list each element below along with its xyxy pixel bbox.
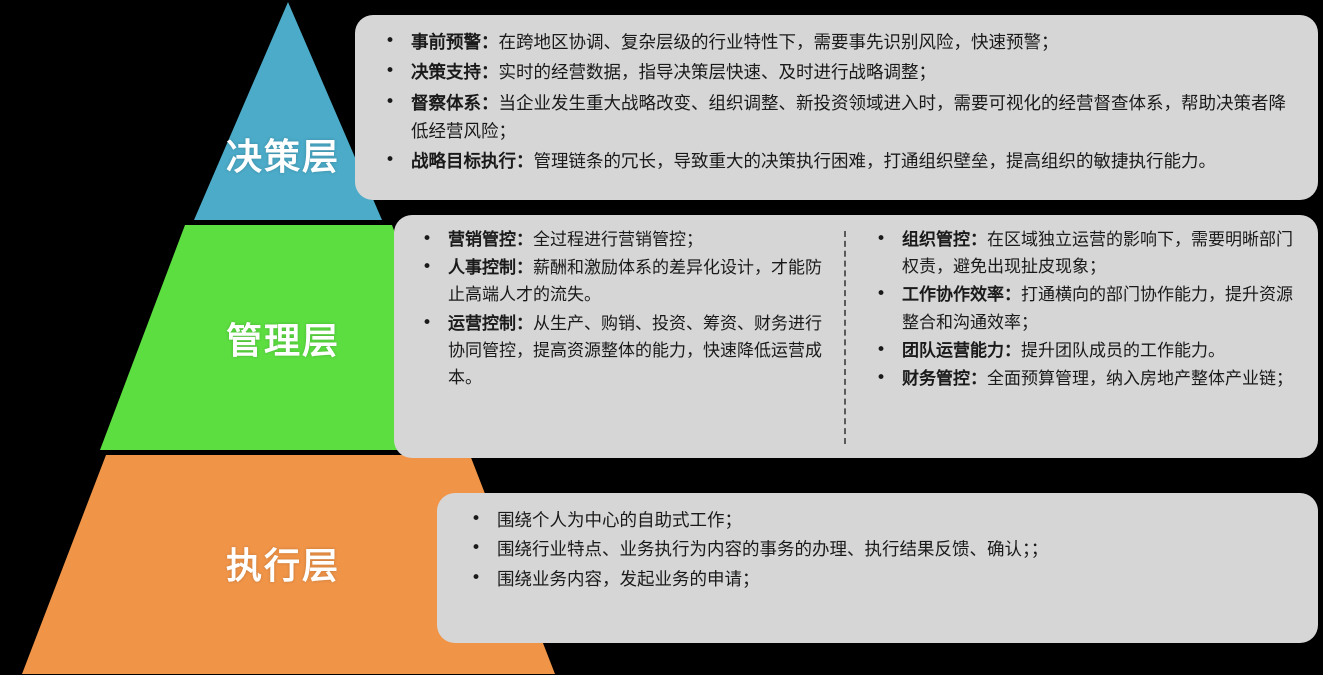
management-right-bullet-item-term: 团队运营能力： xyxy=(902,341,1021,361)
management-left-bullet-item-term: 运营控制： xyxy=(448,314,533,334)
management-right-bullet-item-term: 财务管控： xyxy=(902,369,987,389)
execution-bullet-item: 围绕业务内容，发起业务的申请； xyxy=(455,566,1302,594)
panel-decision-layer: 事前预警：在跨地区协调、复杂层级的行业特性下，需要事先识别风险，快速预警；决策支… xyxy=(355,15,1318,200)
execution-bullet-list: 围绕个人为中心的自助式工作；围绕行业特点、业务执行为内容的事务的办理、执行结果反… xyxy=(455,507,1302,594)
management-right-bullet-item: 团队运营能力：提升团队成员的工作能力。 xyxy=(868,338,1304,365)
decision-bullet-item-term: 决策支持： xyxy=(411,63,499,83)
management-right-bullet-item-text: 提升团队成员的工作能力。 xyxy=(1021,341,1225,361)
management-left-bullet-item: 营销管控：全过程进行营销管控； xyxy=(410,227,830,254)
decision-bullet-item-text: 当企业发生重大战略改变、组织调整、新投资领域进入时，需要可视化的经营督查体系，帮… xyxy=(411,94,1286,142)
management-left-bullet-list: 营销管控：全过程进行营销管控；人事控制：薪酬和激励体系的差异化设计，才能防止高端… xyxy=(410,227,830,392)
execution-bullet-item: 围绕个人为中心的自助式工作； xyxy=(455,507,1302,535)
decision-bullet-item-term: 事前预警： xyxy=(411,33,499,53)
management-left-bullet-item: 运营控制：从生产、购销、投资、筹资、财务进行协同管控，提高资源整体的能力，快速降… xyxy=(410,311,830,393)
execution-bullet-item-text: 围绕业务内容，发起业务的申请； xyxy=(497,570,760,590)
panel-execution-layer: 围绕个人为中心的自助式工作；围绕行业特点、业务执行为内容的事务的办理、执行结果反… xyxy=(437,493,1318,643)
decision-bullet-item-term: 督察体系： xyxy=(411,94,499,114)
management-left-bullet-item-text: 全过程进行营销管控； xyxy=(533,230,703,250)
decision-bullet-item: 事前预警：在跨地区协调、复杂层级的行业特性下，需要事先识别风险，快速预警； xyxy=(373,29,1302,57)
decision-bullet-list: 事前预警：在跨地区协调、复杂层级的行业特性下，需要事先识别风险，快速预警；决策支… xyxy=(373,29,1302,177)
management-left-bullet-item-term: 人事控制： xyxy=(448,258,533,278)
diagram-canvas: 决策层 管理层 执行层 事前预警：在跨地区协调、复杂层级的行业特性下，需要事先识… xyxy=(0,0,1323,675)
management-right-bullet-item: 财务管控：全面预算管理，纳入房地产整体产业链； xyxy=(868,366,1304,393)
management-right-bullet-item-term: 组织管控： xyxy=(902,230,987,250)
management-right-bullet-item-term: 工作协作效率： xyxy=(902,285,1021,305)
management-right-bullet-list: 组织管控：在区域独立运营的影响下，需要明晰部门权责，避免出现扯皮现象；工作协作效… xyxy=(868,227,1304,393)
execution-bullet-item-text: 围绕行业特点、业务执行为内容的事务的办理、执行结果反馈、确认；； xyxy=(497,540,1048,560)
execution-bullet-item-text: 围绕个人为中心的自助式工作； xyxy=(497,511,742,531)
management-left-bullet-item-term: 营销管控： xyxy=(448,230,533,250)
decision-bullet-item-term: 战略目标执行： xyxy=(411,152,534,172)
pyramid-tier-top[interactable] xyxy=(194,2,382,220)
decision-bullet-item-text: 管理链条的冗长，导致重大的决策执行困难，打通组织壁垒，提高组织的敏捷执行能力。 xyxy=(534,152,1217,172)
panel-management-layer: 营销管控：全过程进行营销管控；人事控制：薪酬和激励体系的差异化设计，才能防止高端… xyxy=(394,215,1318,458)
decision-bullet-item: 督察体系：当企业发生重大战略改变、组织调整、新投资领域进入时，需要可视化的经营督… xyxy=(373,90,1302,147)
decision-bullet-item: 战略目标执行：管理链条的冗长，导致重大的决策执行困难，打通组织壁垒，提高组织的敏… xyxy=(373,148,1302,176)
management-right-bullet-item-text: 全面预算管理，纳入房地产整体产业链； xyxy=(987,369,1293,389)
management-column-right: 组织管控：在区域独立运营的影响下，需要明晰部门权责，避免出现扯皮现象；工作协作效… xyxy=(846,227,1304,448)
management-column-left: 营销管控：全过程进行营销管控；人事控制：薪酬和激励体系的差异化设计，才能防止高端… xyxy=(410,227,844,448)
execution-bullet-item: 围绕行业特点、业务执行为内容的事务的办理、执行结果反馈、确认；； xyxy=(455,536,1302,564)
decision-bullet-item-text: 实时的经营数据，指导决策层快速、及时进行战略调整； xyxy=(499,63,937,83)
management-right-bullet-item: 组织管控：在区域独立运营的影响下，需要明晰部门权责，避免出现扯皮现象； xyxy=(868,227,1304,281)
management-left-bullet-item: 人事控制：薪酬和激励体系的差异化设计，才能防止高端人才的流失。 xyxy=(410,255,830,309)
management-right-bullet-item: 工作协作效率：打通横向的部门协作能力，提升资源整合和沟通效率； xyxy=(868,282,1304,336)
decision-bullet-item: 决策支持：实时的经营数据，指导决策层快速、及时进行战略调整； xyxy=(373,59,1302,87)
decision-bullet-item-text: 在跨地区协调、复杂层级的行业特性下，需要事先识别风险，快速预警； xyxy=(499,33,1059,53)
